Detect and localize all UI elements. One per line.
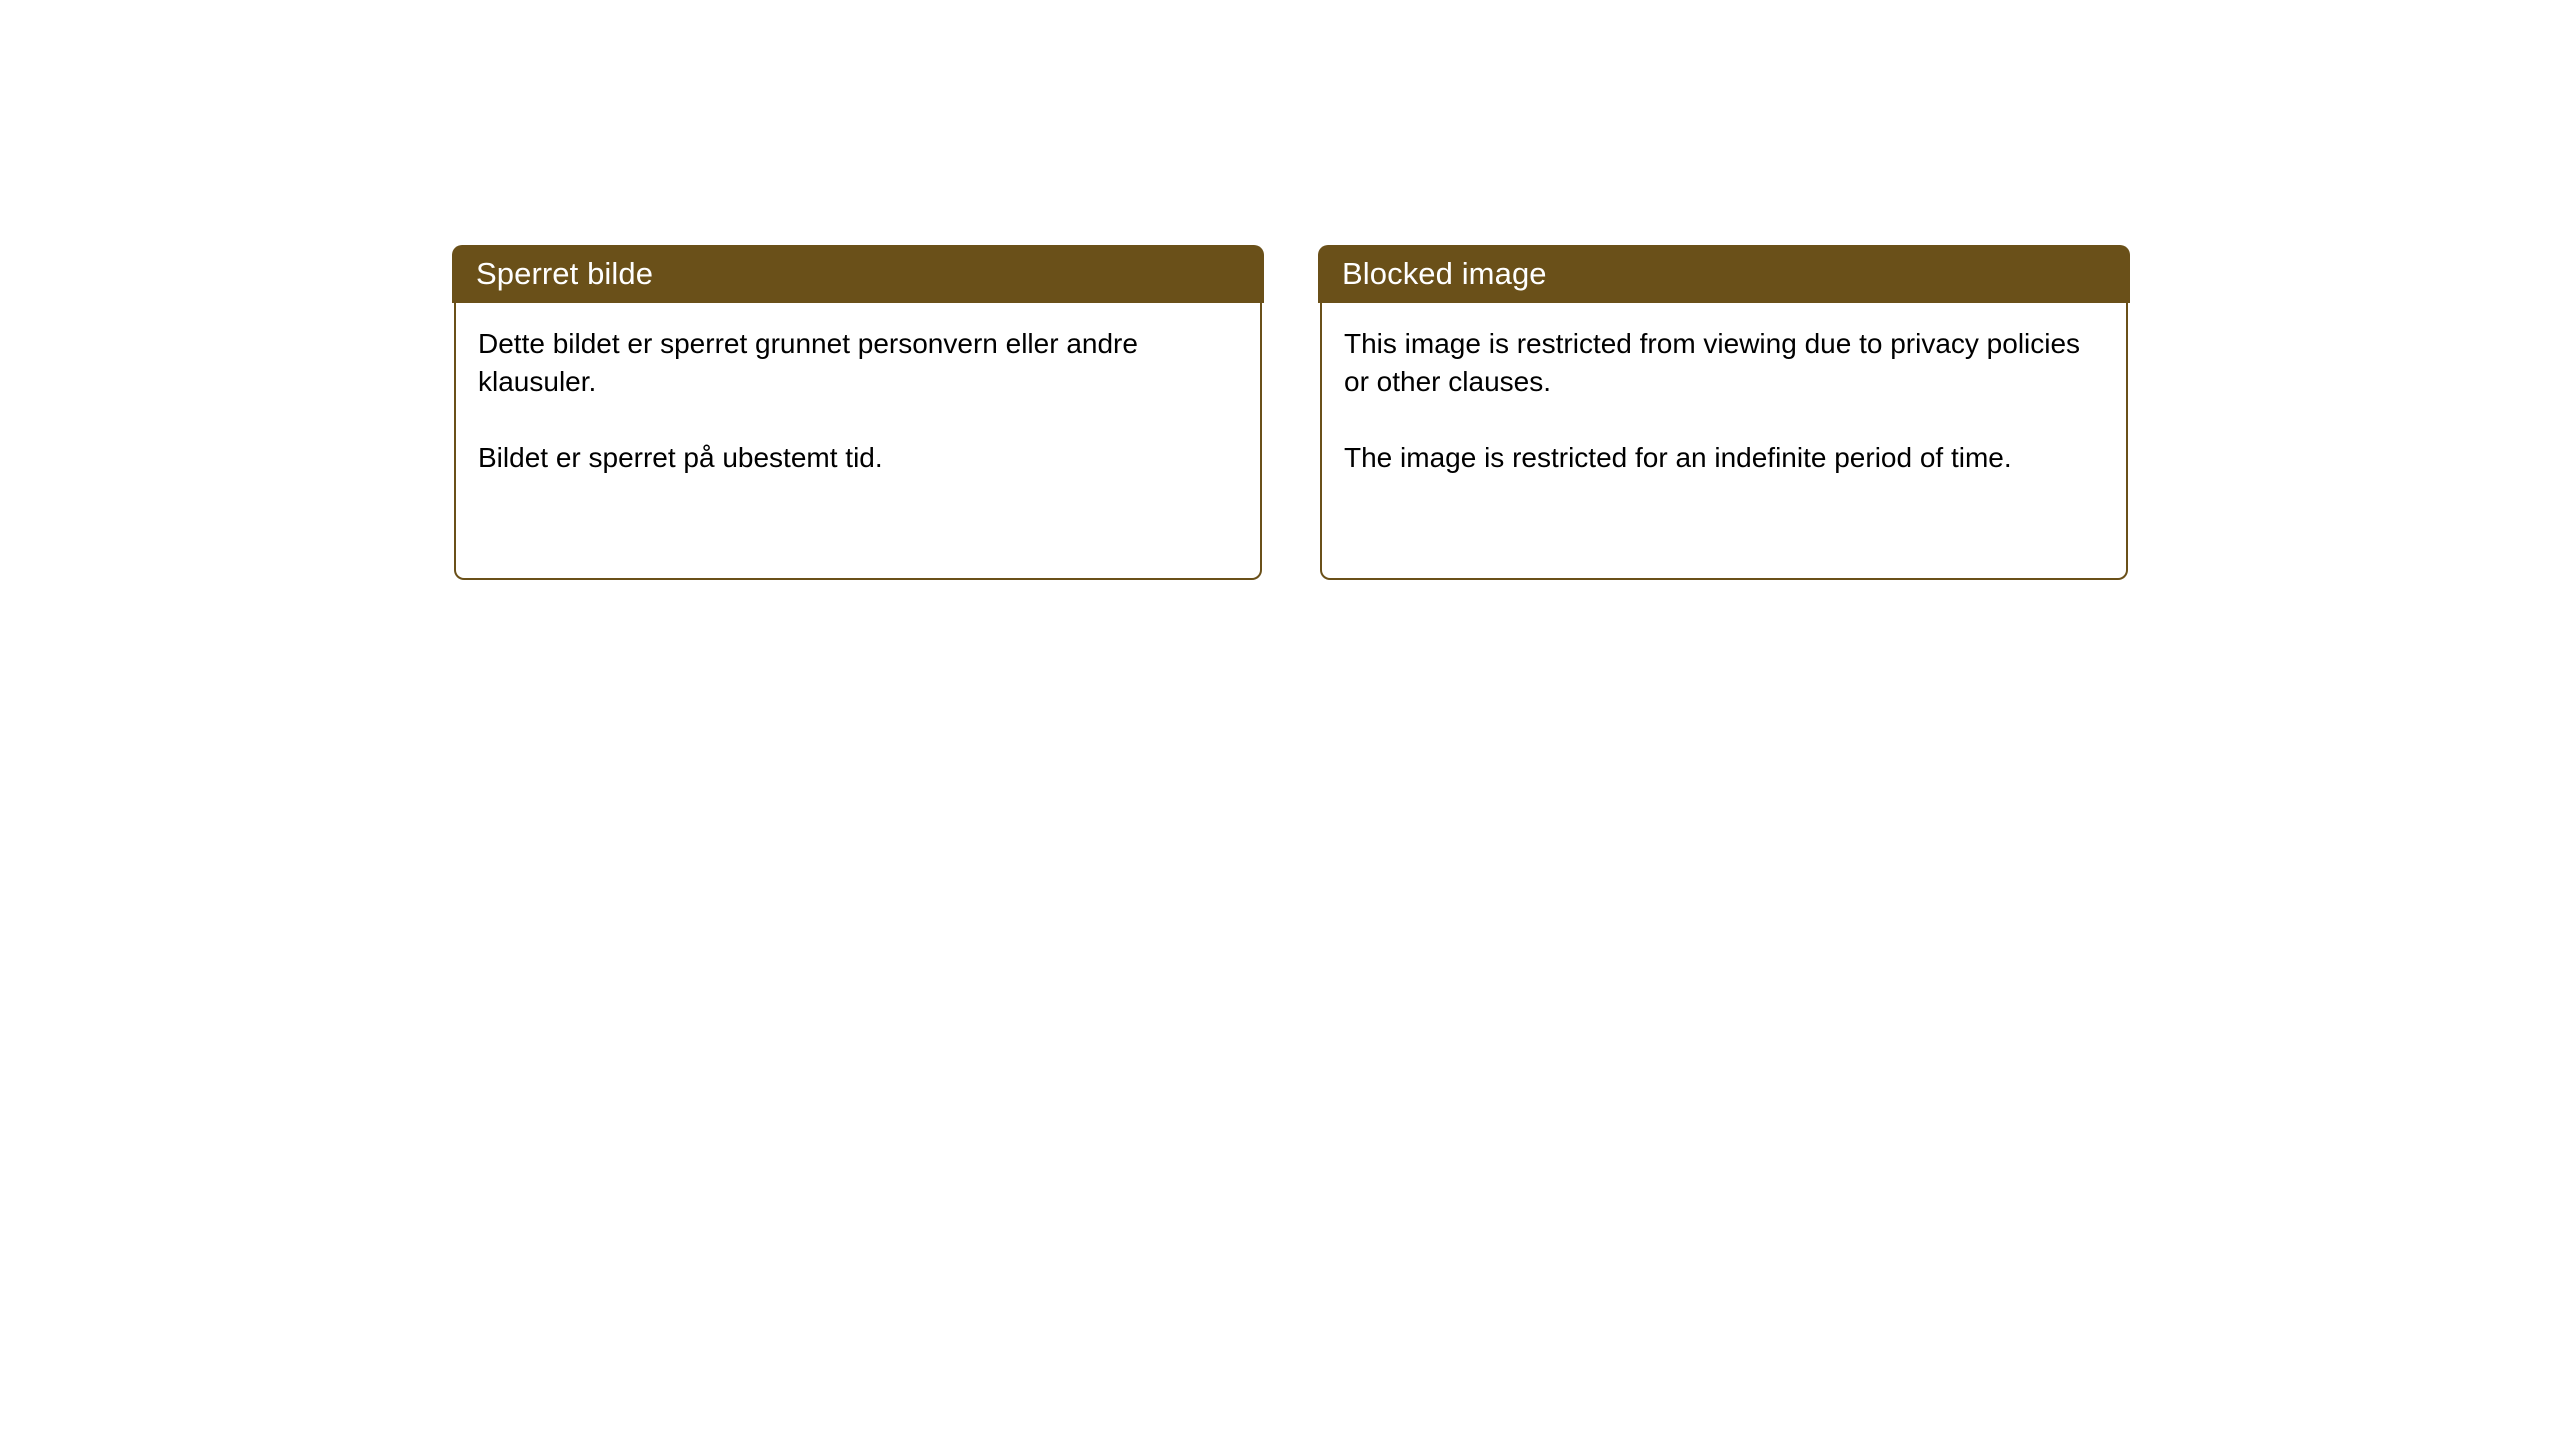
page-canvas: Sperret bilde Dette bildet er sperret gr…: [0, 0, 2560, 1440]
card-paragraph-reason-norwegian: Dette bildet er sperret grunnet personve…: [478, 325, 1236, 401]
card-paragraph-duration-english: The image is restricted for an indefinit…: [1344, 439, 2102, 477]
card-header-norwegian: Sperret bilde: [452, 245, 1264, 303]
blocked-image-card-norwegian: Sperret bilde Dette bildet er sperret gr…: [452, 245, 1264, 580]
card-paragraph-duration-norwegian: Bildet er sperret på ubestemt tid.: [478, 439, 1236, 477]
card-paragraph-reason-english: This image is restricted from viewing du…: [1344, 325, 2102, 401]
card-body-norwegian: Dette bildet er sperret grunnet personve…: [454, 303, 1262, 580]
blocked-image-card-english: Blocked image This image is restricted f…: [1318, 245, 2130, 580]
card-body-english: This image is restricted from viewing du…: [1320, 303, 2128, 580]
card-title-norwegian: Sperret bilde: [476, 256, 653, 292]
card-title-english: Blocked image: [1342, 256, 1547, 292]
card-header-english: Blocked image: [1318, 245, 2130, 303]
